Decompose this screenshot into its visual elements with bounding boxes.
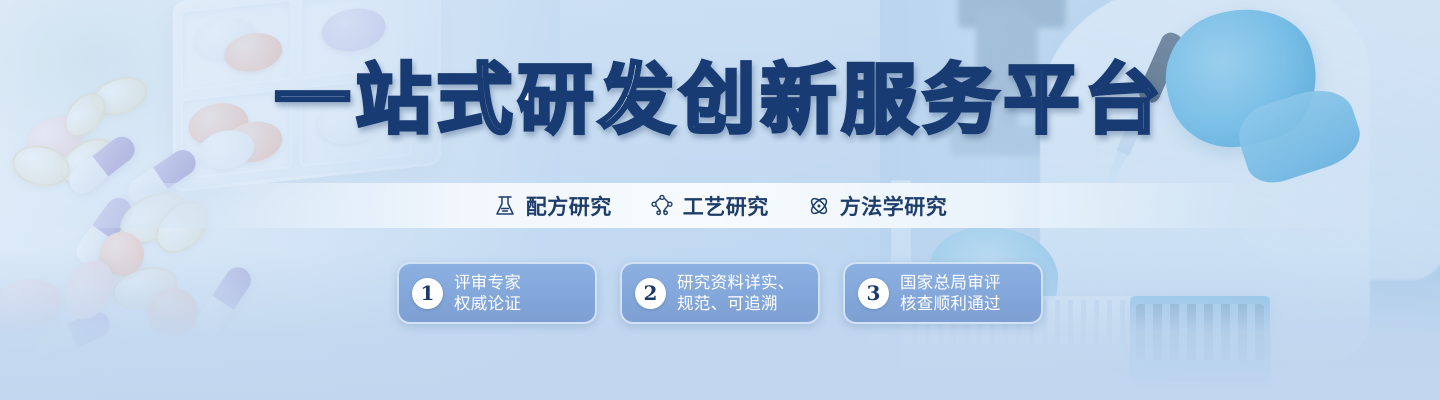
feature-card-line-2: 规范、可追溯 [677,293,795,314]
subtitle-item-methodology-research[interactable]: 方法学研究 [807,191,948,221]
feature-card-text: 研究资料详实、 规范、可追溯 [677,272,795,314]
subtitle-band: 配方研究 [0,183,1440,228]
feature-card-line-1: 评审专家 [454,272,521,293]
feature-card-number-badge: 2 [635,278,666,309]
feature-card-text: 国家总局审评 核查顺利通过 [900,272,1001,314]
feature-card-line-2: 权威论证 [454,293,521,314]
subtitle-item-process-research[interactable]: 工艺研究 [650,191,769,221]
feature-card-3[interactable]: 3 国家总局审评 核查顺利通过 [843,262,1043,324]
feature-card-list: 1 评审专家 权威论证 2 研究资料详实、 规范、可追溯 3 国家总局审评 核查… [0,262,1440,324]
feature-card-number-badge: 1 [412,278,443,309]
atom-icon [807,194,831,218]
conical-flask-icon [493,194,517,218]
banner-content: 一站式研发创新服务平台 配方研究 [0,0,1440,400]
promo-banner: 一站式研发创新服务平台 配方研究 [0,0,1440,400]
subtitle-item-label: 工艺研究 [683,191,769,221]
banner-title-wrapper: 一站式研发创新服务平台 [275,62,1166,138]
feature-card-1[interactable]: 1 评审专家 权威论证 [397,262,597,324]
feature-card-line-1: 研究资料详实、 [677,272,795,293]
feature-card-line-2: 核查顺利通过 [900,293,1001,314]
feature-card-2[interactable]: 2 研究资料详实、 规范、可追溯 [620,262,820,324]
feature-card-text: 评审专家 权威论证 [454,272,521,314]
feature-card-number-badge: 3 [858,278,889,309]
subtitle-item-list: 配方研究 [493,191,948,221]
feature-card-line-1: 国家总局审评 [900,272,1001,293]
banner-title: 一站式研发创新服务平台 [275,62,1166,138]
subtitle-item-label: 方法学研究 [840,191,948,221]
molecule-icon [650,194,674,218]
subtitle-item-formulation-research[interactable]: 配方研究 [493,191,612,221]
subtitle-item-label: 配方研究 [526,191,612,221]
